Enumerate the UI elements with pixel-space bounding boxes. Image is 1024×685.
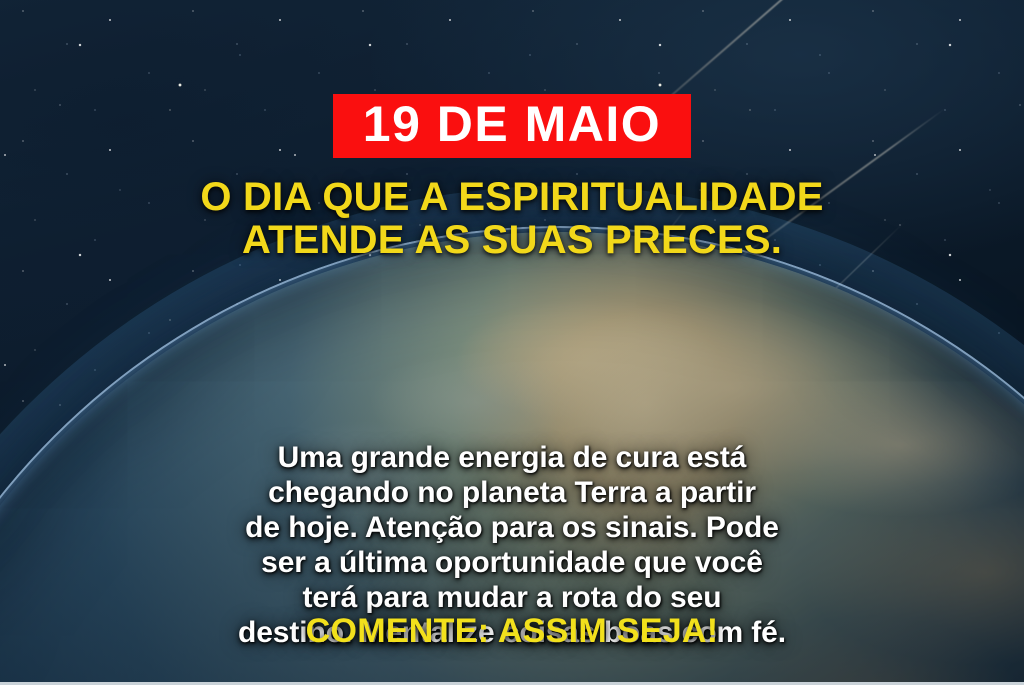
- body-line-3: de hoje. Atenção para os sinais. Pode: [72, 510, 952, 545]
- poster-content: 19 DE MAIO O DIA QUE A ESPIRITUALIDADE A…: [0, 0, 1024, 682]
- date-banner: 19 DE MAIO: [333, 94, 691, 158]
- body-line-4: ser a última oportunidade que você: [72, 545, 952, 580]
- body-line-1: Uma grande energia de cura está: [72, 440, 952, 475]
- headline-line-2: ATENDE AS SUAS PRECES.: [62, 219, 962, 262]
- body-line-5: terá para mudar a rota do seu: [72, 580, 952, 615]
- headline: O DIA QUE A ESPIRITUALIDADE ATENDE AS SU…: [62, 176, 962, 262]
- poster-canvas: 19 DE MAIO O DIA QUE A ESPIRITUALIDADE A…: [0, 0, 1024, 685]
- headline-line-1: O DIA QUE A ESPIRITUALIDADE: [62, 176, 962, 219]
- call-to-action-text: COMENTE: ASSIM SEJA!: [62, 612, 962, 651]
- body-line-2: chegando no planeta Terra a partir: [72, 475, 952, 510]
- date-banner-label: 19 DE MAIO: [363, 99, 661, 149]
